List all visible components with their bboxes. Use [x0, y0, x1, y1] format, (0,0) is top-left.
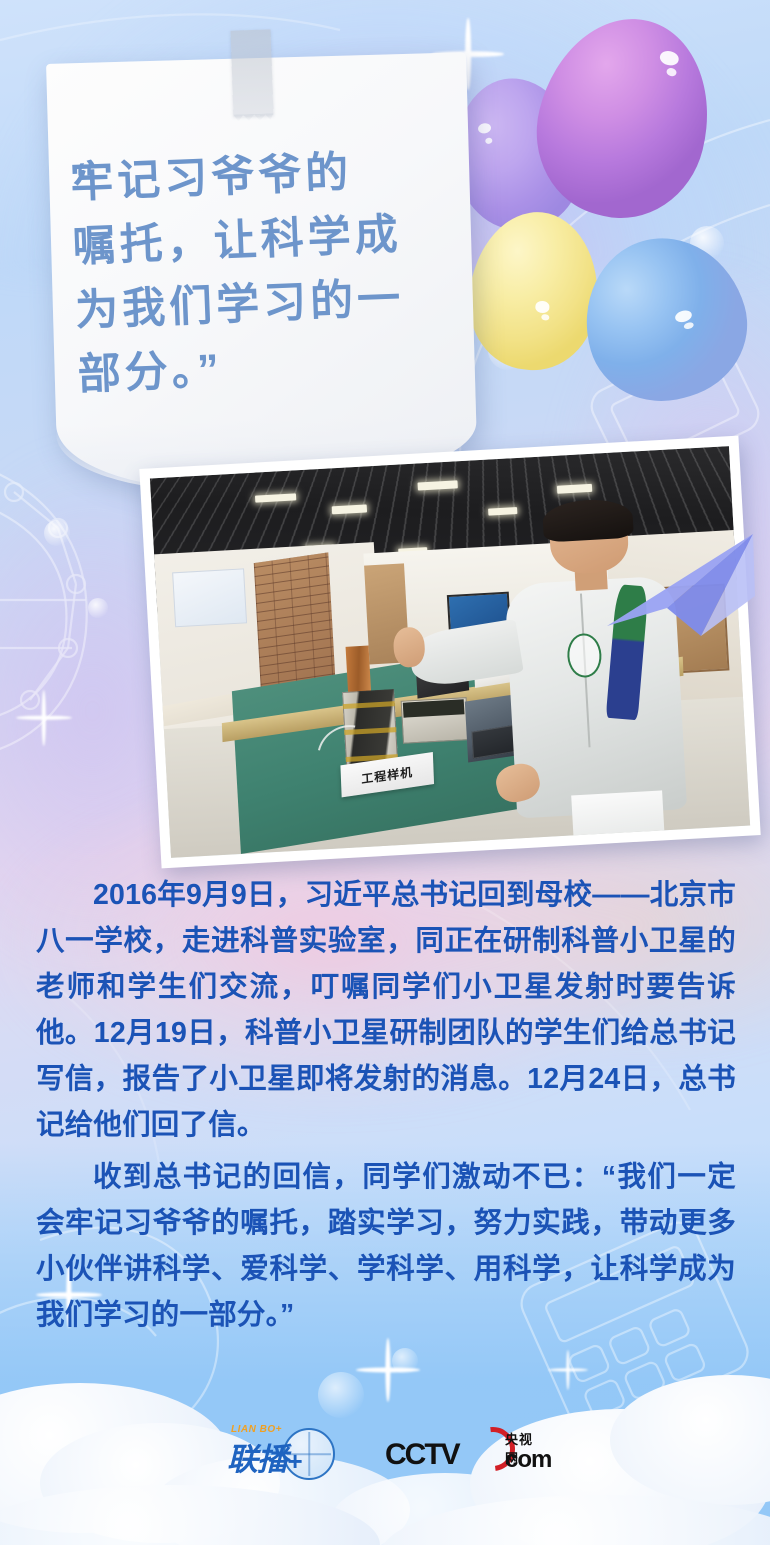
photo-card: 工程样机 [139, 436, 760, 869]
cctv-wordmark: CCTV [385, 1438, 459, 1472]
lianbo-chinese-text: 联播 [227, 1442, 287, 1477]
article-paragraph-2: 收到总书记的回信，同学们激动不已：“我们一定会牢记习爷爷的嘱托，踏实学习，努力实… [36, 1154, 736, 1338]
poster-root: 牢记习爷爷的 嘱托，让科学成 为我们学习的一 部分。” “ [0, 0, 770, 1545]
lab-photo: 工程样机 [150, 446, 750, 858]
cctv-logo[interactable]: CCTV 央视网 com [385, 1425, 545, 1477]
cctv-domain-label: com [505, 1446, 551, 1474]
footer-logos: LIAN BO+ 联播+ CCTV 央视网 com [0, 1417, 770, 1485]
lianbo-chinese-label: 联播+ [227, 1434, 301, 1479]
quote-open-mark: “ [75, 155, 98, 205]
tape-strip [231, 29, 274, 116]
bokeh-dot [44, 520, 70, 546]
quote-text: 牢记习爷爷的 嘱托，让科学成 为我们学习的一 部分。” [69, 137, 459, 407]
lianbo-plus-sign: + [287, 1446, 301, 1476]
quote-line-4: 部分。” [77, 329, 459, 408]
prototype-sign-label: 工程样机 [361, 762, 413, 786]
bokeh-dot [88, 598, 108, 618]
lianbo-plus-logo[interactable]: LIAN BO+ 联播+ [225, 1422, 337, 1480]
article-body: 2016年9月9日，习近平总书记回到母校——北京市八一学校，走进科普实验室，同正… [36, 872, 736, 1344]
photo-frame: 工程样机 [139, 436, 760, 869]
paper-plane-icon [605, 530, 755, 650]
article-paragraph-1: 2016年9月9日，习近平总书记回到母校——北京市八一学校，走进科普实验室，同正… [36, 872, 736, 1148]
